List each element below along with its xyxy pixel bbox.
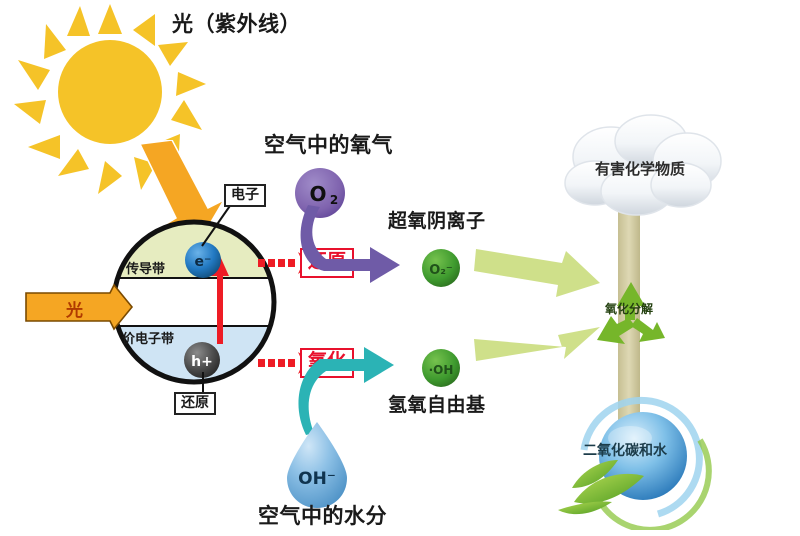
superoxide-anion-label: 超氧阴离子	[388, 206, 486, 233]
oxidative-decomposition-label: 氧化分解	[605, 300, 653, 317]
conduction-band-label: 传导带	[126, 258, 165, 277]
svg-text:e⁻: e⁻	[195, 254, 212, 270]
co2-and-water-label: 二氧化碳和水	[583, 440, 667, 460]
svg-text:·OH: ·OH	[429, 363, 454, 377]
harmful-chemicals-label: 有害化学物质	[595, 158, 685, 179]
svg-text:O: O	[309, 182, 326, 206]
oxygen-in-air-label: 空气中的氧气	[264, 129, 393, 159]
moisture-in-air-label: 空气中的水分	[258, 500, 387, 530]
photocatalysis-diagram: 光（紫外线） 传导带 价电子带 e⁻	[0, 0, 800, 536]
svg-text:O₂⁻: O₂⁻	[429, 263, 453, 278]
svg-text:OH⁻: OH⁻	[298, 469, 336, 489]
green-arrow-upper	[474, 245, 604, 305]
light-uv-label: 光（紫外线）	[172, 8, 301, 38]
light-input-arrow	[24, 283, 144, 331]
green-arrow-lower	[474, 305, 604, 365]
hydroxyl-radical-label: 氢氧自由基	[388, 390, 486, 417]
reduction-callout-label: 还原	[174, 392, 216, 415]
eco-globe-icon	[548, 390, 738, 530]
electron-callout-label: 电子	[224, 184, 266, 207]
light-arrow-label: 光	[66, 296, 83, 321]
hydroxyl-radical-molecule: ·OH	[418, 345, 464, 391]
svg-text:h+: h+	[191, 354, 213, 370]
superoxide-molecule: O₂⁻	[418, 245, 464, 291]
